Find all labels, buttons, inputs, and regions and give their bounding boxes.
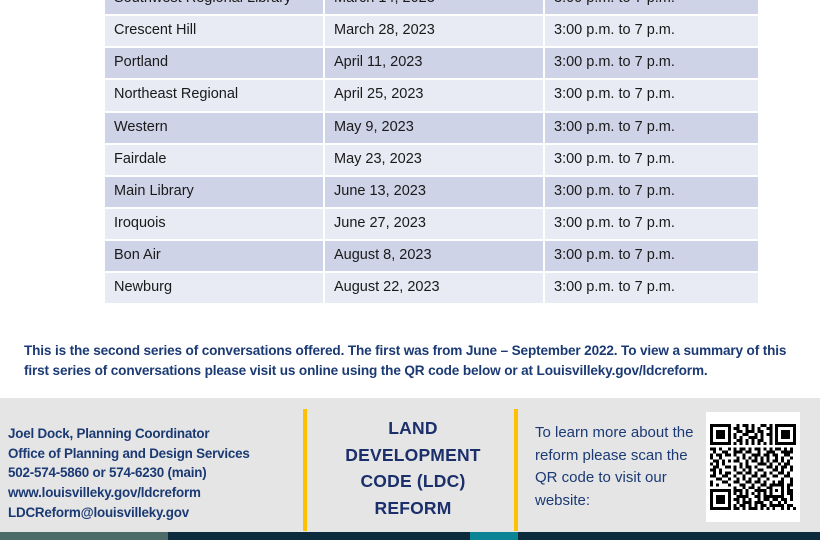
qr-instruction-text: To learn more about the reform please sc…: [535, 422, 705, 512]
table-row: Southwest Regional Library March 14, 202…: [105, 0, 758, 14]
cell-location: Fairdale: [105, 145, 323, 175]
schedule-table-container: Southwest Regional Library March 14, 202…: [103, 0, 712, 305]
cell-location: Southwest Regional Library: [105, 0, 323, 14]
bottom-bar-segment-left: [0, 532, 168, 540]
schedule-table-body: Southwest Regional Library March 14, 202…: [105, 0, 758, 303]
bottom-accent-bar: [0, 532, 820, 540]
cell-date: June 27, 2023: [325, 209, 543, 239]
contact-website[interactable]: www.louisvilleky.gov/ldcreform: [8, 483, 288, 503]
cell-time: 3:00 p.m. to 7 p.m.: [545, 177, 758, 207]
qr-code-icon: [710, 424, 796, 510]
divider-right: [514, 409, 518, 531]
cell-location: Iroquois: [105, 209, 323, 239]
table-row: Western May 9, 2023 3:00 p.m. to 7 p.m.: [105, 113, 758, 143]
cell-time: 3:00 p.m. to 7 p.m.: [545, 273, 758, 303]
cell-location: Main Library: [105, 177, 323, 207]
schedule-table: Southwest Regional Library March 14, 202…: [103, 0, 760, 305]
cell-time: 3:00 p.m. to 7 p.m.: [545, 80, 758, 110]
table-row: Bon Air August 8, 2023 3:00 p.m. to 7 p.…: [105, 241, 758, 271]
cell-time: 3:00 p.m. to 7 p.m.: [545, 241, 758, 271]
cell-date: April 25, 2023: [325, 80, 543, 110]
cell-date: April 11, 2023: [325, 48, 543, 78]
table-row: Main Library June 13, 2023 3:00 p.m. to …: [105, 177, 758, 207]
qr-code[interactable]: [706, 412, 800, 522]
cell-date: August 22, 2023: [325, 273, 543, 303]
cell-date: June 13, 2023: [325, 177, 543, 207]
brand-line-2: DEVELOPMENT: [320, 442, 506, 469]
table-row: Iroquois June 27, 2023 3:00 p.m. to 7 p.…: [105, 209, 758, 239]
contact-email[interactable]: LDCReform@louisvilleky.gov: [8, 503, 288, 523]
cell-time: 3:00 p.m. to 7 p.m.: [545, 16, 758, 46]
series-note: This is the second series of conversatio…: [24, 341, 796, 381]
cell-location: Crescent Hill: [105, 16, 323, 46]
cell-time: 3:00 p.m. to 7 p.m.: [545, 0, 758, 14]
cell-location: Newburg: [105, 273, 323, 303]
contact-office: Office of Planning and Design Services: [8, 444, 288, 464]
cell-time: 3:00 p.m. to 7 p.m.: [545, 48, 758, 78]
contact-phone: 502-574-5860 or 574-6230 (main): [8, 463, 288, 483]
cell-location: Northeast Regional: [105, 80, 323, 110]
brand-line-3: CODE (LDC): [320, 468, 506, 495]
cell-time: 3:00 p.m. to 7 p.m.: [545, 113, 758, 143]
cell-time: 3:00 p.m. to 7 p.m.: [545, 209, 758, 239]
cell-date: May 9, 2023: [325, 113, 543, 143]
cell-date: May 23, 2023: [325, 145, 543, 175]
cell-date: March 28, 2023: [325, 16, 543, 46]
cell-location: Portland: [105, 48, 323, 78]
cell-date: August 8, 2023: [325, 241, 543, 271]
table-row: Northeast Regional April 25, 2023 3:00 p…: [105, 80, 758, 110]
table-row: Fairdale May 23, 2023 3:00 p.m. to 7 p.m…: [105, 145, 758, 175]
table-row: Crescent Hill March 28, 2023 3:00 p.m. t…: [105, 16, 758, 46]
contact-name: Joel Dock, Planning Coordinator: [8, 424, 288, 444]
bottom-bar-segment-teal: [470, 532, 518, 540]
table-row: Portland April 11, 2023 3:00 p.m. to 7 p…: [105, 48, 758, 78]
cell-location: Western: [105, 113, 323, 143]
cell-time: 3:00 p.m. to 7 p.m.: [545, 145, 758, 175]
divider-left: [303, 409, 307, 531]
brand-title: LAND DEVELOPMENT CODE (LDC) REFORM: [320, 415, 506, 521]
contact-block: Joel Dock, Planning Coordinator Office o…: [8, 424, 288, 523]
cell-location: Bon Air: [105, 241, 323, 271]
brand-line-1: LAND: [320, 415, 506, 442]
table-row: Newburg August 22, 2023 3:00 p.m. to 7 p…: [105, 273, 758, 303]
brand-line-4: REFORM: [320, 495, 506, 522]
cell-date: March 14, 2023: [325, 0, 543, 14]
